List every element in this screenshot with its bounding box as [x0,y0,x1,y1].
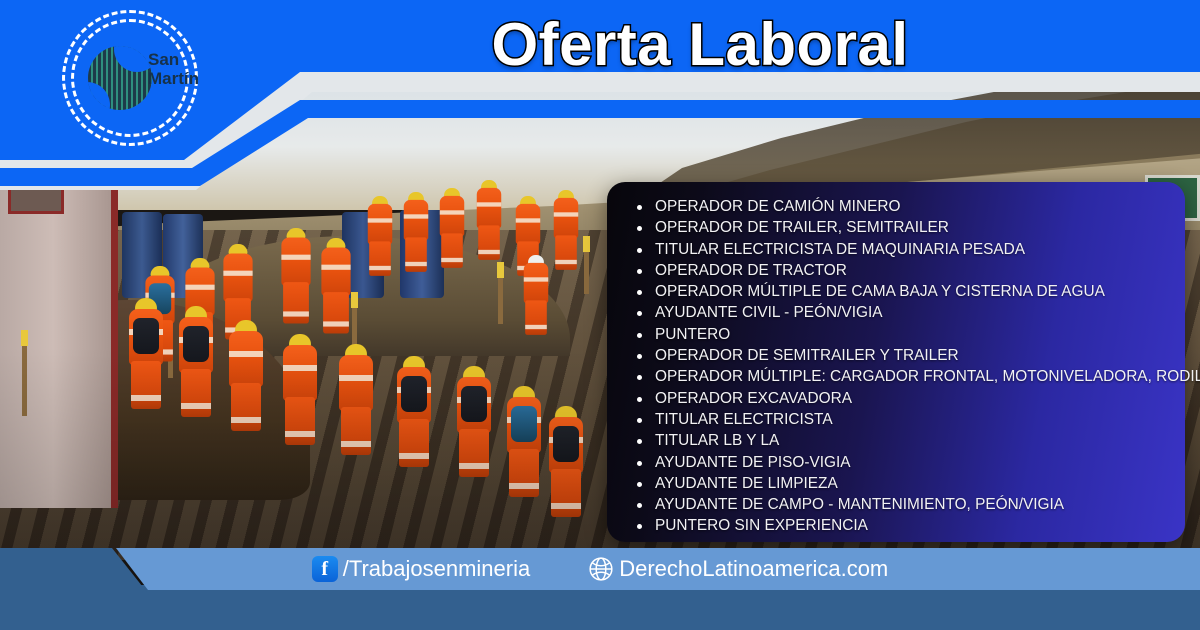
website-label: DerechoLatinoamerica.com [619,556,888,582]
facebook-icon: f [312,556,338,582]
job-list-item: OPERADOR MÚLTIPLE: CARGADOR FRONTAL, MOT… [633,366,1167,387]
job-list-item: OPERADOR DE TRACTOR [633,260,1167,281]
logo-text: San Martín [148,50,208,88]
job-list-item: OPERADOR DE CAMIÓN MINERO [633,196,1167,217]
logo-text-line1: San [148,50,208,69]
job-list-item: TITULAR ELECTRICISTA DE MAQUINARIA PESAD… [633,239,1167,260]
footer-dark-band [0,585,1200,630]
job-list-item: PUNTERO SIN EXPERIENCIA [633,515,1167,536]
job-list-item: OPERADOR MÚLTIPLE DE CAMA BAJA Y CISTERN… [633,281,1167,302]
job-list-item: AYUDANTE CIVIL - PEÓN/VIGIA [633,302,1167,323]
logo-s-mark-icon [88,46,152,110]
logo-text-line2: Martín [148,69,208,88]
website-link[interactable]: DerechoLatinoamerica.com [588,556,888,582]
job-list: OPERADOR DE CAMIÓN MINEROOPERADOR DE TRA… [633,196,1167,537]
footer-content: f /Trabajosenmineria DerechoLatinoameric… [0,548,1200,590]
job-list-item: AYUDANTE DE PISO-VIGIA [633,452,1167,473]
job-list-item: OPERADOR DE SEMITRAILER Y TRAILER [633,345,1167,366]
san-martin-logo: San Martín [60,8,200,148]
job-list-item: TITULAR LB Y LA [633,430,1167,451]
page-title: Oferta Laboral [330,6,1070,86]
facebook-link[interactable]: f /Trabajosenmineria [312,556,531,582]
job-list-panel: OPERADOR DE CAMIÓN MINEROOPERADOR DE TRA… [607,182,1185,542]
job-list-item: AYUDANTE DE LIMPIEZA [633,473,1167,494]
poster-canvas: San Martín Oferta Laboral OPERADOR DE CA… [0,0,1200,630]
job-list-item: OPERADOR EXCAVADORA [633,388,1167,409]
globe-icon [588,556,614,582]
job-list-item: PUNTERO [633,324,1167,345]
job-list-item: TITULAR ELECTRICISTA [633,409,1167,430]
job-list-item: OPERADOR DE TRAILER, SEMITRAILER [633,217,1167,238]
job-list-item: AYUDANTE DE CAMPO - MANTENIMIENTO, PEÓN/… [633,494,1167,515]
facebook-handle: /Trabajosenmineria [343,556,531,582]
